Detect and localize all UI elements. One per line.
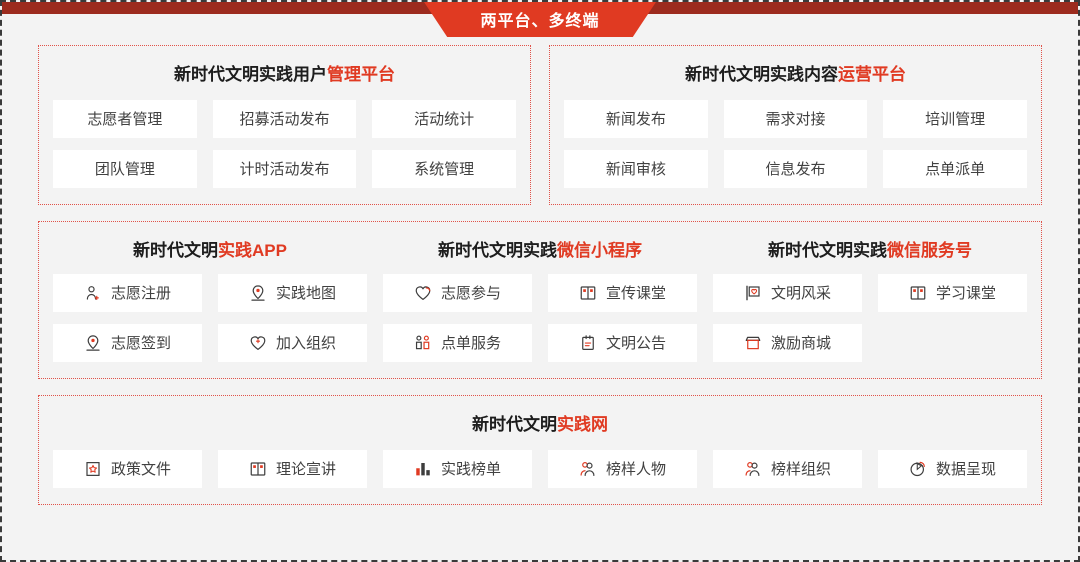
open-book-icon <box>909 284 927 302</box>
card-system-management[interactable]: 系统管理 <box>372 150 516 188</box>
card-label: 团队管理 <box>95 162 155 177</box>
person-add-icon <box>84 284 102 302</box>
card-label: 需求对接 <box>765 112 825 127</box>
card-label: 系统管理 <box>414 162 474 177</box>
title-plain: 新时代文明 <box>472 415 557 434</box>
card-practice-map[interactable]: 实践地图 <box>218 274 367 312</box>
card-label: 活动统计 <box>414 112 474 127</box>
card-label: 实践榜单 <box>441 462 501 477</box>
map-pin-icon <box>249 284 267 302</box>
card-civilization-style[interactable]: 文明风采 <box>713 274 862 312</box>
card-activity-statistics[interactable]: 活动统计 <box>372 100 516 138</box>
two-people-icon <box>579 460 597 478</box>
card-theory-lecture[interactable]: 理论宣讲 <box>218 450 367 488</box>
title-accent: 微信服务号 <box>887 241 972 260</box>
card-label: 文明风采 <box>771 286 831 301</box>
panel-web-title: 新时代文明实践网 <box>53 414 1027 436</box>
card-publicity-classroom[interactable]: 宣传课堂 <box>548 274 697 312</box>
card-volunteer-checkin[interactable]: 志愿签到 <box>53 324 202 362</box>
title-plain: 新时代文明 <box>133 241 218 260</box>
panel-content-platform: 新时代文明实践内容运营平台 新闻发布 需求对接 培训管理 新闻审核 信息发布 点… <box>549 45 1042 205</box>
card-data-presentation[interactable]: 数据呈现 <box>878 450 1027 488</box>
card-demand-matching[interactable]: 需求对接 <box>724 100 868 138</box>
card-label: 新闻审核 <box>606 162 666 177</box>
bar-chart-icon <box>414 460 432 478</box>
infographic-frame: 两平台、多终端 新时代文明实践用户管理平台 志愿者管理 招募活动发布 活动统计 … <box>0 0 1080 562</box>
platform-row: 新时代文明实践用户管理平台 志愿者管理 招募活动发布 活动统计 团队管理 计时活… <box>38 45 1042 205</box>
card-news-review[interactable]: 新闻审核 <box>564 150 708 188</box>
card-label: 新闻发布 <box>606 112 666 127</box>
open-book-icon <box>579 284 597 302</box>
heading-miniprogram: 新时代文明实践微信小程序 <box>383 240 697 262</box>
banner-title: 两平台、多终端 <box>480 10 599 30</box>
title-plain: 新时代文明实践 <box>438 241 557 260</box>
announcement-icon <box>579 334 597 352</box>
heart-plus-icon <box>249 334 267 352</box>
card-join-organization[interactable]: 加入组织 <box>218 324 367 362</box>
user-platform-card-grid: 志愿者管理 招募活动发布 活动统计 团队管理 计时活动发布 系统管理 <box>53 100 516 188</box>
card-order-service[interactable]: 点单服务 <box>383 324 532 362</box>
two-people-icon <box>744 460 762 478</box>
card-label: 理论宣讲 <box>276 462 336 477</box>
title-accent: 实践网 <box>557 415 608 434</box>
title-plain: 新时代文明实践用户 <box>174 65 327 84</box>
card-label: 激励商城 <box>771 336 831 351</box>
card-label: 培训管理 <box>925 112 985 127</box>
terminal-headings: 新时代文明实践APP 新时代文明实践微信小程序 新时代文明实践微信服务号 <box>53 240 1027 262</box>
content-area: 新时代文明实践用户管理平台 志愿者管理 招募活动发布 活动统计 团队管理 计时活… <box>2 37 1078 560</box>
card-empty-slot <box>878 324 1027 362</box>
heading-service-account: 新时代文明实践微信服务号 <box>713 240 1027 262</box>
card-label: 数据呈现 <box>936 462 996 477</box>
panel-content-platform-title: 新时代文明实践内容运营平台 <box>564 64 1027 86</box>
card-model-people[interactable]: 榜样人物 <box>548 450 697 488</box>
card-volunteer-registration[interactable]: 志愿注册 <box>53 274 202 312</box>
card-order-dispatch[interactable]: 点单派单 <box>883 150 1027 188</box>
card-label: 志愿者管理 <box>87 112 162 127</box>
card-news-publish[interactable]: 新闻发布 <box>564 100 708 138</box>
heart-icon <box>414 284 432 302</box>
panel-user-platform: 新时代文明实践用户管理平台 志愿者管理 招募活动发布 活动统计 团队管理 计时活… <box>38 45 531 205</box>
card-policy-documents[interactable]: 政策文件 <box>53 450 202 488</box>
card-label: 榜样人物 <box>606 462 666 477</box>
card-recruitment-activity-publish[interactable]: 招募活动发布 <box>213 100 357 138</box>
card-label: 信息发布 <box>765 162 825 177</box>
title-plain: 新时代文明实践内容 <box>685 65 838 84</box>
card-label: 志愿参与 <box>441 286 501 301</box>
card-label: 实践地图 <box>276 286 336 301</box>
group-people-icon <box>414 334 432 352</box>
heading-app: 新时代文明实践APP <box>53 240 367 262</box>
card-label: 政策文件 <box>111 462 171 477</box>
banner-ribbon: 两平台、多终端 <box>424 2 656 37</box>
card-incentive-mall[interactable]: 激励商城 <box>713 324 862 362</box>
card-timed-activity-publish[interactable]: 计时活动发布 <box>213 150 357 188</box>
title-accent: 实践APP <box>218 241 287 260</box>
card-label: 加入组织 <box>276 336 336 351</box>
card-label: 榜样组织 <box>771 462 831 477</box>
panel-terminals: 新时代文明实践APP 新时代文明实践微信小程序 新时代文明实践微信服务号 志愿注… <box>38 221 1042 379</box>
card-information-publish[interactable]: 信息发布 <box>724 150 868 188</box>
card-model-organizations[interactable]: 榜样组织 <box>713 450 862 488</box>
card-label: 学习课堂 <box>936 286 996 301</box>
card-team-management[interactable]: 团队管理 <box>53 150 197 188</box>
card-training-management[interactable]: 培训管理 <box>883 100 1027 138</box>
card-label: 计时活动发布 <box>239 162 329 177</box>
pie-chart-icon <box>909 460 927 478</box>
card-practice-ranking[interactable]: 实践榜单 <box>383 450 532 488</box>
panel-user-platform-title: 新时代文明实践用户管理平台 <box>53 64 516 86</box>
content-platform-card-grid: 新闻发布 需求对接 培训管理 新闻审核 信息发布 点单派单 <box>564 100 1027 188</box>
card-label: 志愿签到 <box>111 336 171 351</box>
panel-web: 新时代文明实践网 政策文件 理论宣讲 <box>38 395 1042 505</box>
title-plain: 新时代文明实践 <box>768 241 887 260</box>
card-label: 招募活动发布 <box>239 112 329 127</box>
card-volunteer-management[interactable]: 志愿者管理 <box>53 100 197 138</box>
card-civilization-announcement[interactable]: 文明公告 <box>548 324 697 362</box>
card-volunteer-participation[interactable]: 志愿参与 <box>383 274 532 312</box>
card-study-classroom[interactable]: 学习课堂 <box>878 274 1027 312</box>
card-label: 文明公告 <box>606 336 666 351</box>
title-accent: 微信小程序 <box>557 241 642 260</box>
card-label: 点单派单 <box>925 162 985 177</box>
card-label: 志愿注册 <box>111 286 171 301</box>
web-card-grid: 政策文件 理论宣讲 实践榜单 <box>53 450 1027 488</box>
map-pin-icon <box>84 334 102 352</box>
title-accent: 运营平台 <box>838 65 906 84</box>
card-label: 点单服务 <box>441 336 501 351</box>
title-accent: 管理平台 <box>327 65 395 84</box>
banner-heart-icon <box>744 284 762 302</box>
shop-icon <box>744 334 762 352</box>
open-book-icon <box>249 460 267 478</box>
card-label: 宣传课堂 <box>606 286 666 301</box>
policy-doc-icon <box>84 460 102 478</box>
terminals-card-grid: 志愿注册 实践地图 志愿参与 <box>53 274 1027 362</box>
